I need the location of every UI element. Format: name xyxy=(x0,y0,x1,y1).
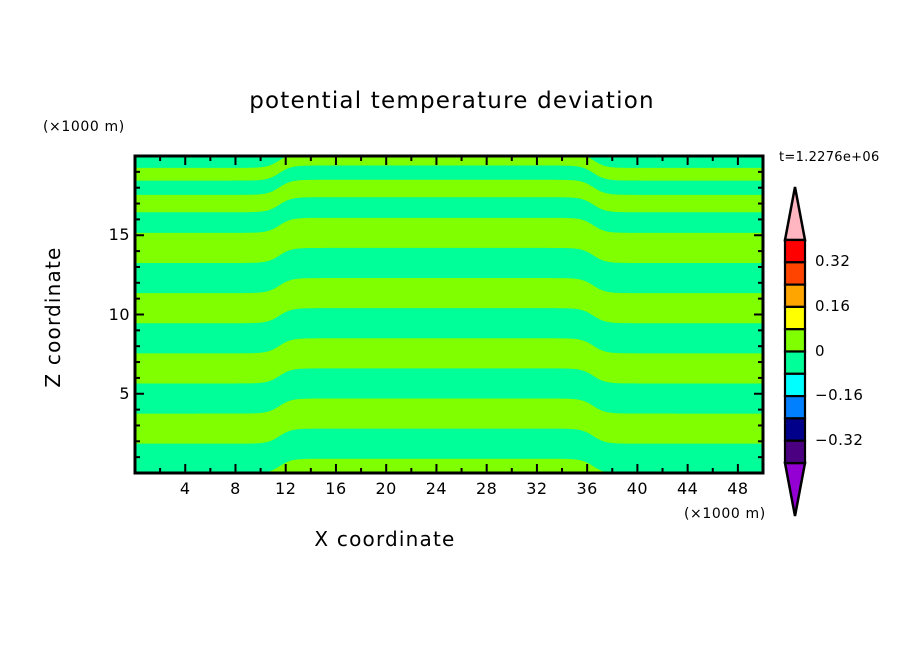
colorbar-over-arrow xyxy=(785,187,805,240)
x-tick-label: 44 xyxy=(668,479,708,498)
colorbar-band xyxy=(785,374,805,396)
y-tick-label: 10 xyxy=(90,305,130,324)
colorbar-under-arrow xyxy=(785,463,805,516)
colorbar-band xyxy=(785,352,805,374)
colorbar-band xyxy=(785,285,805,307)
colorbar-tick-label: −0.16 xyxy=(815,386,863,404)
colorbar-band xyxy=(785,396,805,418)
y-tick-label: 15 xyxy=(90,225,130,244)
contour-plot xyxy=(0,0,904,654)
x-tick-label: 40 xyxy=(617,479,657,498)
x-tick-label: 24 xyxy=(416,479,456,498)
colorbar-tick-label: 0.32 xyxy=(815,252,850,270)
colorbar-tick-label: 0 xyxy=(815,342,825,360)
figure-canvas: potential temperature deviation (×1000 m… xyxy=(0,0,904,654)
x-tick-label: 20 xyxy=(366,479,406,498)
contour-band-group xyxy=(135,153,763,489)
x-tick-label: 48 xyxy=(718,479,758,498)
colorbar-band xyxy=(785,418,805,440)
y-tick-label: 5 xyxy=(90,384,130,403)
colorbar-band xyxy=(785,329,805,351)
x-tick-label: 32 xyxy=(517,479,557,498)
x-tick-label: 16 xyxy=(316,479,356,498)
x-tick-label: 8 xyxy=(215,479,255,498)
colorbar-band xyxy=(785,441,805,463)
x-tick-label: 28 xyxy=(467,479,507,498)
x-tick-label: 12 xyxy=(266,479,306,498)
x-tick-label: 36 xyxy=(567,479,607,498)
x-tick-label: 4 xyxy=(165,479,205,498)
colorbar-band xyxy=(785,307,805,329)
colorbar-band xyxy=(785,240,805,262)
colorbar-tick-label: 0.16 xyxy=(815,297,850,315)
colorbar[interactable] xyxy=(785,187,805,516)
colorbar-tick-label: −0.32 xyxy=(815,431,863,449)
colorbar-band xyxy=(785,262,805,284)
